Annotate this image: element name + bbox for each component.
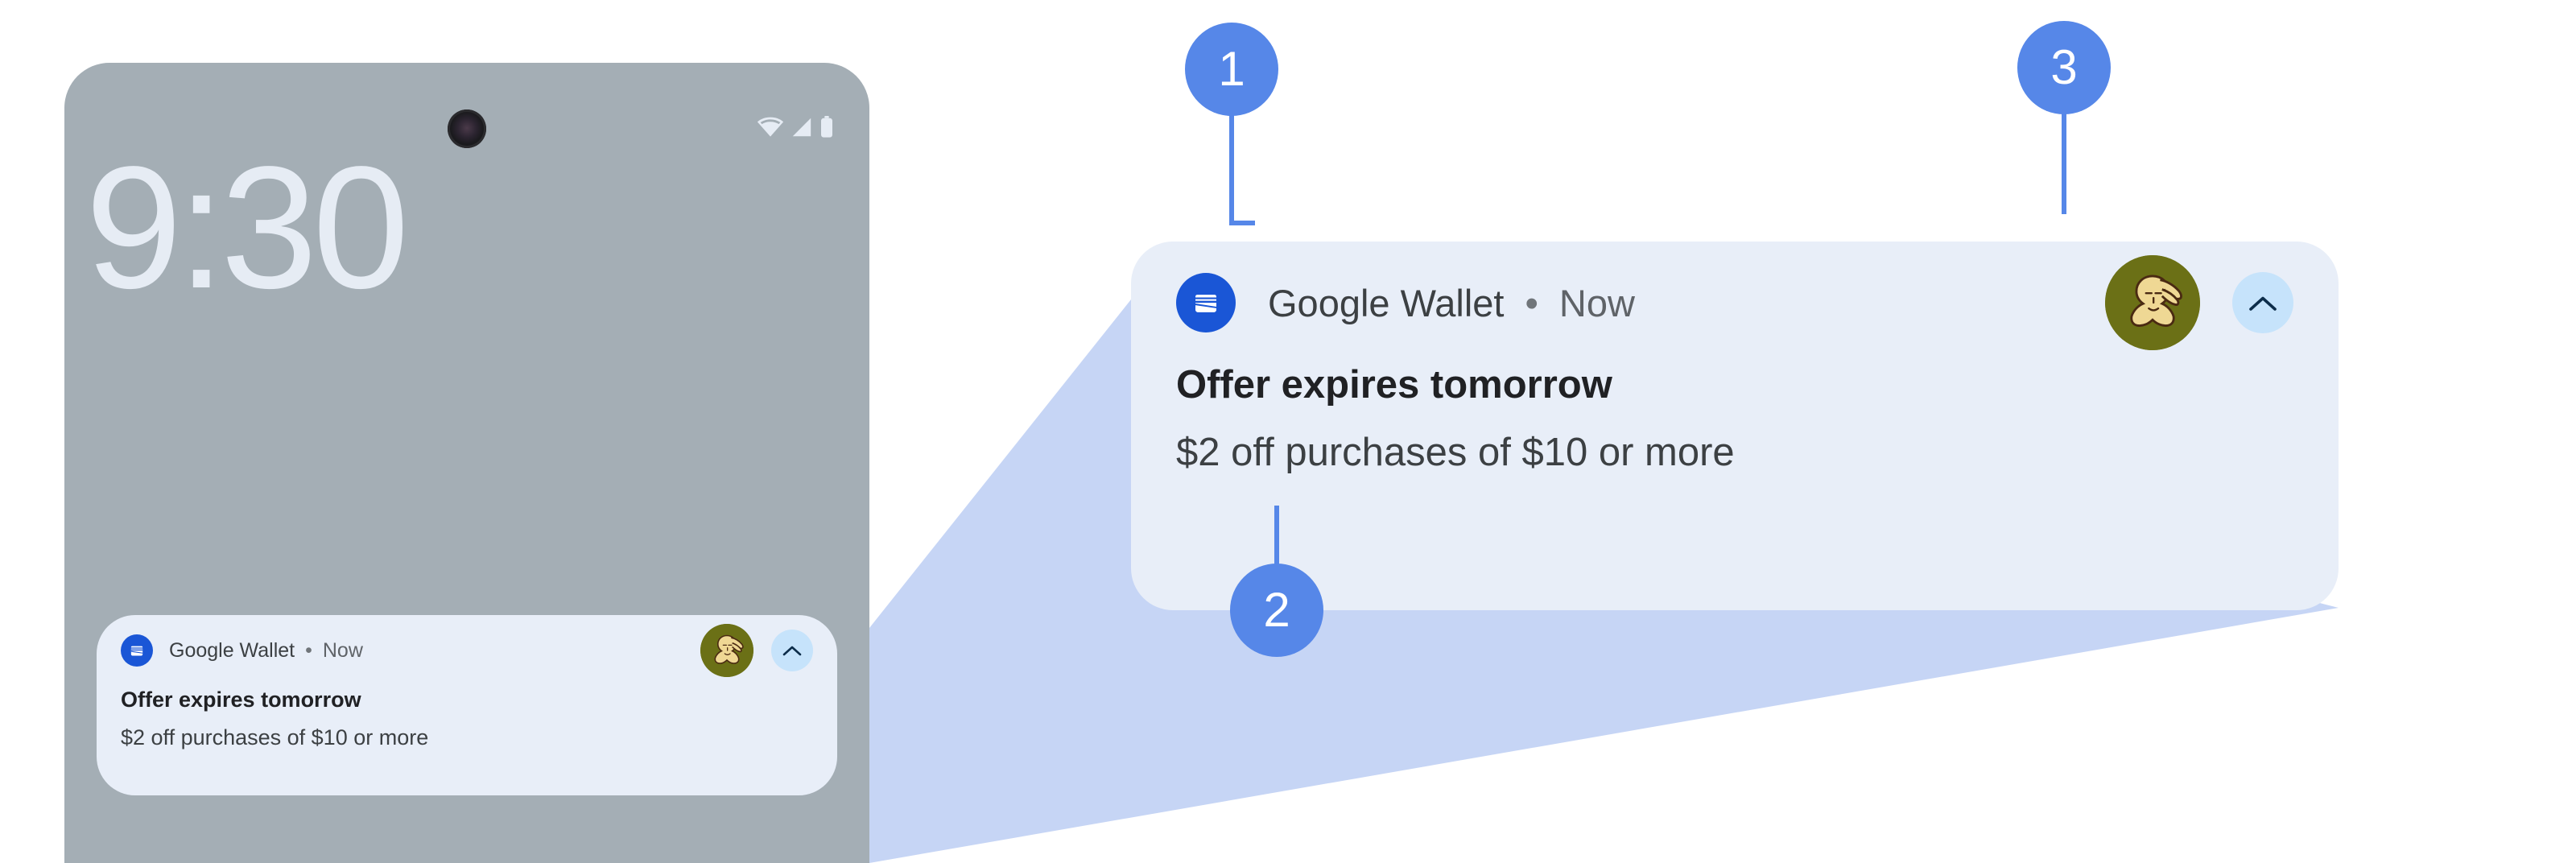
callout-3-leader-line [2062, 111, 2066, 214]
google-wallet-icon [1176, 273, 1236, 332]
notification-app-name-phone: Google Wallet [169, 639, 295, 663]
cellular-signal-icon [791, 117, 813, 138]
notification-card-enlarged[interactable]: Google Wallet • Now [1131, 242, 2339, 610]
callout-badge-1: 1 [1185, 23, 1278, 116]
illustration-canvas: 9:30 Google Wallet • Now [0, 0, 2576, 863]
notification-title-phone: Offer expires tomorrow [121, 688, 837, 712]
lockscreen-clock: 9:30 [85, 140, 404, 314]
callout-1-leader-elbow [1229, 221, 1255, 225]
notification-separator-phone: • [305, 639, 312, 663]
callout-badge-3: 3 [2017, 21, 2111, 114]
notification-timestamp-phone: Now [323, 639, 363, 663]
notification-body-phone: $2 off purchases of $10 or more [121, 725, 837, 750]
merchant-avatar-icon [700, 624, 753, 677]
notification-title-enlarged: Offer expires tomorrow [1176, 362, 2339, 407]
notification-header-enlarged: Google Wallet • Now [1131, 242, 2339, 325]
notification-body-enlarged: $2 off purchases of $10 or more [1176, 430, 2339, 475]
notification-app-name-enlarged: Google Wallet [1268, 281, 1504, 325]
notification-timestamp-enlarged: Now [1559, 281, 1635, 325]
callout-badge-2: 2 [1230, 564, 1323, 657]
notification-actions-phone [700, 624, 813, 677]
notification-card-phone[interactable]: Google Wallet • Now [97, 615, 837, 795]
expand-notification-button-phone[interactable] [771, 630, 813, 671]
expand-notification-button-enlarged[interactable] [2232, 272, 2293, 333]
phone-mockup: 9:30 Google Wallet • Now [64, 63, 869, 863]
notification-actions-enlarged [2105, 255, 2293, 350]
notification-separator-enlarged: • [1525, 281, 1538, 325]
wifi-icon [757, 117, 784, 138]
google-wallet-icon [121, 634, 153, 667]
front-camera-punchhole-icon [448, 109, 486, 148]
battery-icon [819, 116, 834, 138]
callout-2-leader-line [1274, 506, 1279, 570]
phone-status-bar [757, 109, 834, 145]
notification-header-phone: Google Wallet • Now [97, 615, 837, 665]
merchant-avatar-icon [2105, 255, 2200, 350]
callout-1-leader-line [1229, 113, 1234, 225]
